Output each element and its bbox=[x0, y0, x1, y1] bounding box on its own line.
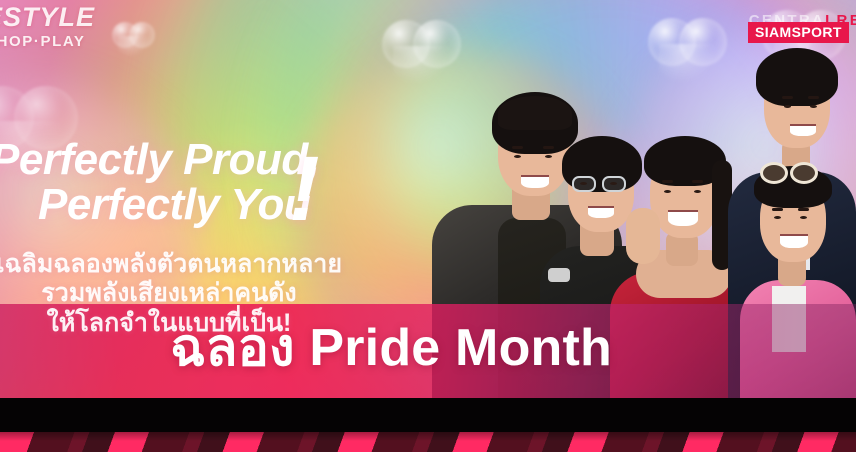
logo-sub-text: SHOP·PLAY bbox=[0, 31, 95, 53]
headline-line-1: Perfectly Proud, bbox=[0, 135, 319, 184]
headline-line-2: Perfectly You bbox=[0, 183, 319, 228]
subheadline-line-1: เฉลิมฉลองพลังตัวตนหลากหลาย bbox=[0, 250, 354, 279]
logo-main-text: ESTYLE bbox=[0, 4, 95, 31]
lifestyle-shop-play-logo[interactable]: ESTYLE SHOP·PLAY bbox=[0, 4, 95, 53]
campaign-title: ฉลอง Pride Month bbox=[170, 322, 612, 374]
top-right-logo-group: CENTRALRE SIAMSPORT bbox=[748, 0, 856, 44]
bubble-heart-icon-small-left bbox=[112, 22, 156, 64]
bubble-heart-icon-right bbox=[648, 18, 728, 96]
pride-month-promo-banner: ESTYLE SHOP·PLAY CENTRALRE SIAMSPORT Per… bbox=[0, 0, 856, 452]
headline-exclamation-mark: ! bbox=[289, 143, 320, 235]
bottom-black-band bbox=[0, 398, 856, 432]
bottom-diagonal-stripe-pattern bbox=[0, 432, 856, 452]
bubble-heart-icon-center bbox=[382, 20, 462, 96]
subheadline-line-2: รวมพลังเสียงเหล่าคนดัง bbox=[0, 279, 354, 308]
headline-english: Perfectly Proud, Perfectly You bbox=[0, 138, 319, 228]
siamsport-watermark-badge[interactable]: SIAMSPORT bbox=[748, 22, 849, 43]
